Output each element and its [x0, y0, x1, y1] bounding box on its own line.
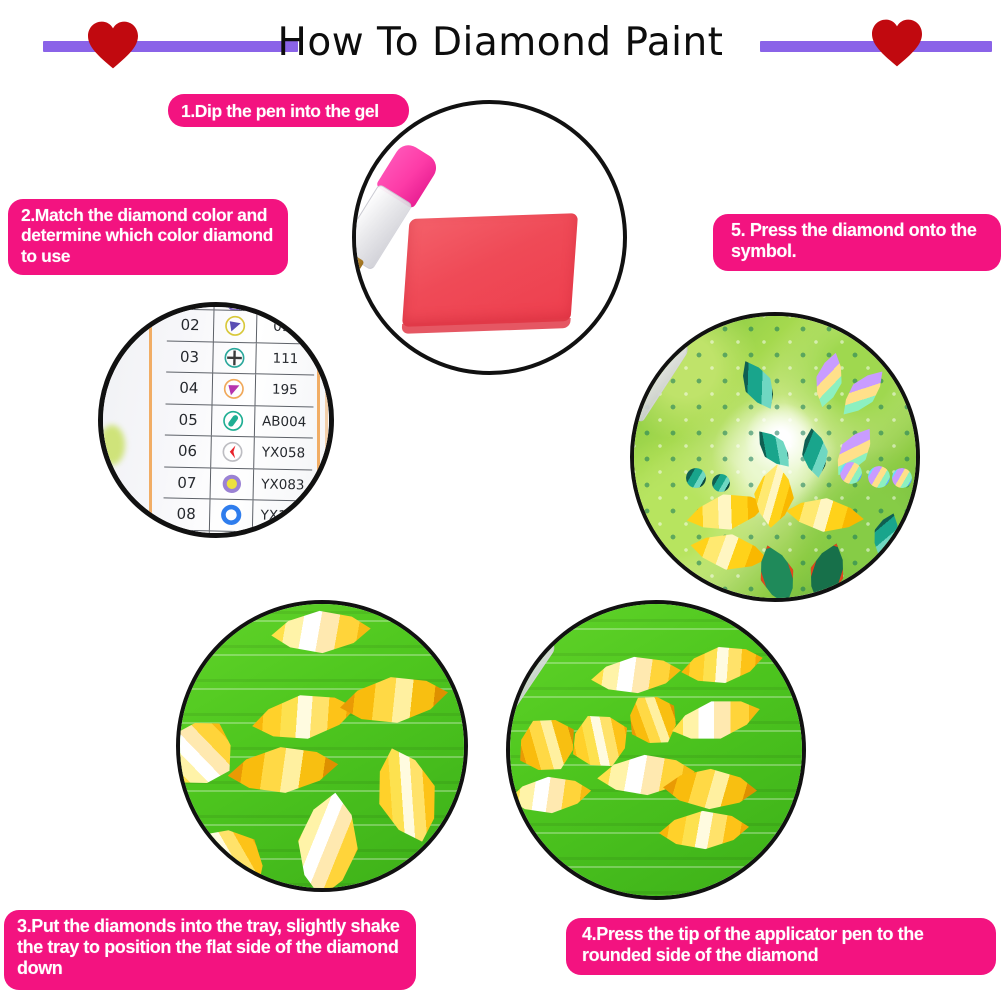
double-dot-circle-symbol — [214, 302, 257, 310]
canvas-speck — [99, 425, 125, 465]
step-1-photo — [352, 100, 627, 375]
chart-code: 195 — [256, 374, 315, 406]
chart-code: 093 — [257, 311, 316, 343]
chart-code: YX083 — [254, 469, 313, 501]
table-row: 05 AB004 — [165, 404, 314, 439]
chart-code: YX125 — [252, 532, 311, 538]
chart-number: 01 — [168, 302, 215, 309]
chart-number: 05 — [165, 404, 213, 435]
color-chart-table: 01 028 02 093 03 — [162, 302, 316, 538]
gem — [840, 462, 862, 484]
step-4-photo — [506, 600, 806, 900]
leaf-symbol — [209, 531, 253, 538]
chart-number: 09 — [162, 530, 210, 538]
pen-tip — [506, 697, 508, 759]
chart-margin-line — [149, 302, 152, 538]
chart-code: AB004 — [255, 406, 314, 438]
cross-symbol — [213, 342, 257, 373]
slash-capsule-symbol — [212, 405, 256, 436]
chevron-left-symbol — [211, 436, 255, 467]
filled-dot-symbol — [211, 468, 255, 499]
step-4-caption: 4.Press the tip of the applicator pen to… — [566, 918, 996, 975]
chart-code: 028 — [257, 302, 315, 312]
chart-code: YX058 — [254, 437, 313, 469]
header: How To Diamond Paint — [0, 0, 1001, 90]
step-2-caption: 2.Match the diamond color and determine … — [8, 199, 288, 275]
step-3-photo — [176, 600, 468, 892]
table-row: 07 YX083 — [164, 467, 313, 502]
page-title: How To Diamond Paint — [0, 20, 1001, 65]
gem — [892, 468, 912, 488]
gem — [712, 474, 730, 492]
chart-code: 111 — [256, 343, 315, 375]
chart-number: 04 — [166, 372, 214, 403]
triangle-symbol — [213, 373, 257, 404]
step-3-caption: 3.Put the diamonds into the tray, slight… — [4, 910, 416, 990]
chart-number: 02 — [167, 309, 215, 340]
chart-number: 07 — [164, 467, 212, 498]
table-row: 08 YX106 — [163, 498, 312, 533]
step-5-caption: 5. Press the diamond onto the symbol. — [713, 214, 1001, 271]
canvas-speck — [101, 507, 123, 527]
table-row: 02 093 — [167, 309, 316, 344]
table-row: 03 111 — [166, 341, 315, 376]
step-2-photo: 01 028 02 093 03 — [98, 302, 334, 538]
table-row: 04 195 — [166, 372, 315, 407]
gem — [686, 468, 706, 488]
chart-number: 06 — [164, 435, 212, 466]
infographic-canvas: How To Diamond Paint 1.Dip the pen into … — [0, 0, 1001, 1001]
triangle-symbol — [214, 310, 258, 341]
chart-margin-line — [325, 302, 328, 538]
chart-code: YX106 — [253, 500, 312, 532]
table-row: 06 YX058 — [164, 435, 313, 470]
gem — [868, 466, 890, 488]
ring-symbol — [210, 499, 254, 530]
step-5-photo — [630, 312, 920, 602]
red-gel-pad — [402, 213, 578, 327]
chart-margin-line — [317, 302, 320, 538]
chart-number: 08 — [163, 498, 211, 529]
chart-number: 03 — [166, 341, 214, 372]
